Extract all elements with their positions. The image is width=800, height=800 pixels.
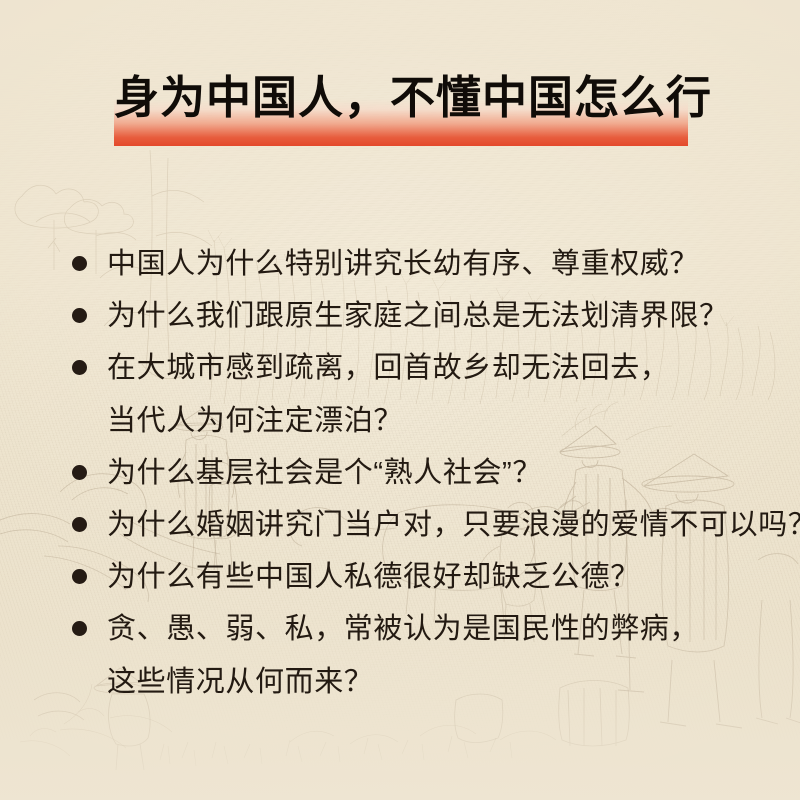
list-item-text: 为什么有些中国人私德很好却缺乏公德？ — [107, 556, 772, 598]
list-item: 贪、愚、弱、私，常被认为是国民性的弊病， 这些情况从何而来？ — [72, 608, 772, 703]
bullet-dot-icon — [72, 621, 87, 636]
page-title: 身为中国人，不懂中国怎么行 — [114, 68, 688, 128]
list-item: 中国人为什么特别讲究长幼有序、尊重权威？ — [72, 243, 772, 285]
list-item-line: 在大城市感到疏离，回首故乡却无法回去， — [107, 347, 772, 389]
list-item-line: 为什么有些中国人私德很好却缺乏公德？ — [107, 556, 772, 598]
bullet-dot-icon — [72, 569, 87, 584]
list-item-line: 中国人为什么特别讲究长幼有序、尊重权威？ — [107, 243, 772, 285]
list-item-text: 为什么基层社会是个“熟人社会”？ — [107, 452, 772, 494]
list-item-line: 为什么婚姻讲究门当户对，只要浪漫的爱情不可以吗？ — [107, 504, 772, 546]
list-item-line: 为什么我们跟原生家庭之间总是无法划清界限？ — [107, 295, 772, 337]
list-item-line: 为什么基层社会是个“熟人社会”？ — [107, 452, 772, 494]
list-item: 为什么基层社会是个“熟人社会”？ — [72, 452, 772, 494]
list-item: 为什么我们跟原生家庭之间总是无法划清界限？ — [72, 295, 772, 337]
bullet-dot-icon — [72, 360, 87, 375]
list-item-text: 贪、愚、弱、私，常被认为是国民性的弊病， 这些情况从何而来？ — [107, 608, 772, 703]
bullet-dot-icon — [72, 517, 87, 532]
list-item-line: 这些情况从何而来？ — [107, 661, 772, 703]
title-block: 身为中国人，不懂中国怎么行 — [114, 99, 688, 146]
list-item: 在大城市感到疏离，回首故乡却无法回去， 当代人为何注定漂泊？ — [72, 347, 772, 442]
list-item-text: 中国人为什么特别讲究长幼有序、尊重权威？ — [107, 243, 772, 285]
list-item: 为什么有些中国人私德很好却缺乏公德？ — [72, 556, 772, 598]
poster-canvas: 身为中国人，不懂中国怎么行 中国人为什么特别讲究长幼有序、尊重权威？ 为什么我们… — [0, 0, 800, 800]
ground-stubble — [20, 716, 556, 766]
list-item: 为什么婚姻讲究门当户对，只要浪漫的爱情不可以吗？ — [72, 504, 772, 546]
list-item-text: 在大城市感到疏离，回首故乡却无法回去， 当代人为何注定漂泊？ — [107, 347, 772, 442]
list-item-text: 为什么我们跟原生家庭之间总是无法划清界限？ — [107, 295, 772, 337]
bullet-dot-icon — [72, 256, 87, 271]
list-item-line: 当代人为何注定漂泊？ — [107, 400, 772, 442]
bullet-dot-icon — [72, 465, 87, 480]
question-list: 中国人为什么特别讲究长幼有序、尊重权威？ 为什么我们跟原生家庭之间总是无法划清界… — [72, 243, 772, 713]
list-item-text: 为什么婚姻讲究门当户对，只要浪漫的爱情不可以吗？ — [107, 504, 772, 546]
list-item-line: 贪、愚、弱、私，常被认为是国民性的弊病， — [107, 608, 772, 650]
bullet-dot-icon — [72, 308, 87, 323]
